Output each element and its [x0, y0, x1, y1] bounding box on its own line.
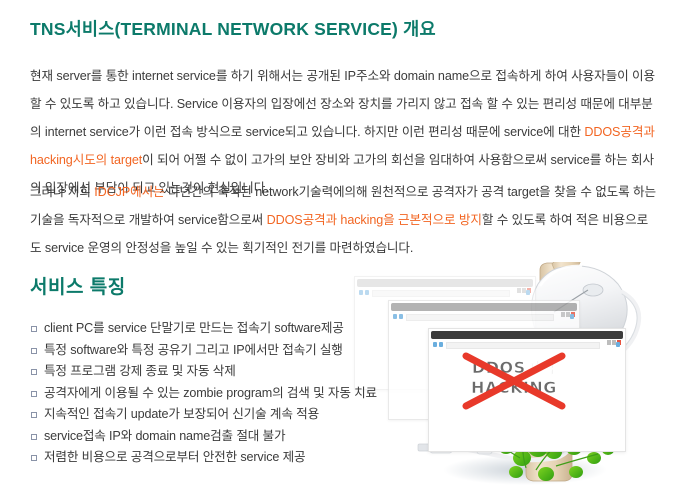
list-item-label: 저렴한 비용으로 공격으로부터 안전한 service 제공: [44, 450, 305, 464]
window-controls: [516, 280, 532, 286]
intro-paragraph-2: 그러나 저희 IDCJP에서는 다년간의 축적된 network기술력에의해 원…: [30, 178, 658, 262]
search-icon: [526, 290, 530, 295]
browser-window-middle: [388, 300, 580, 420]
forward-icon: [439, 342, 443, 347]
paragraph-2-highlight-1: IDCJP에서는: [94, 185, 164, 199]
browser-toolbar: [432, 341, 622, 348]
browser-toolbar: [358, 289, 532, 296]
bamboo-mouse-artwork: [350, 262, 680, 500]
window-controls: [606, 332, 622, 338]
square-bullet-icon: [31, 391, 37, 397]
red-cross-out-icon: [462, 352, 566, 410]
ivy-vines: [462, 350, 614, 481]
ddos-label-line-1: DDOS공격: [454, 354, 574, 378]
list-item-label: service접속 IP와 domain name검출 절대 불가: [44, 429, 285, 443]
ddos-protection-illustration: DDOS공격 HACKING: [350, 262, 680, 500]
features-list: client PC를 service 단말기로 만드는 접속기 software…: [30, 318, 377, 469]
back-icon: [393, 314, 397, 319]
square-bullet-icon: [31, 412, 37, 418]
list-item: 특정 프로그램 강제 종료 및 자동 삭제: [30, 361, 377, 383]
back-icon: [433, 342, 437, 347]
address-bar: [446, 342, 600, 349]
square-bullet-icon: [31, 369, 37, 375]
browser-titlebar: [391, 303, 577, 311]
square-bullet-icon: [31, 455, 37, 461]
address-bar: [406, 314, 554, 321]
browser-window-back: [354, 276, 536, 390]
browser-window-front: [428, 328, 626, 452]
square-bullet-icon: [31, 348, 37, 354]
browser-titlebar: [431, 331, 623, 339]
computer-mouse: [531, 266, 627, 356]
mouse-cable: [458, 292, 639, 460]
list-item: 지속적인 접속기 update가 보장되어 신기술 계속 적용: [30, 404, 377, 426]
hacking-label-line-2: HACKING: [454, 378, 574, 397]
list-item-label: 지속적인 접속기 update가 보장되어 신기술 계속 적용: [44, 407, 319, 421]
bamboo-shoots: [496, 262, 616, 391]
features-section-title: 서비스 특징: [30, 272, 126, 299]
back-icon: [359, 290, 363, 295]
browser-titlebar: [357, 279, 533, 287]
ddos-crossed-out-label: DDOS공격 HACKING: [454, 352, 574, 414]
list-item: 공격자에게 이용될 수 있는 zombie program의 검색 및 자동 치…: [30, 383, 377, 405]
list-item: service접속 IP와 domain name검출 절대 불가: [30, 426, 377, 448]
list-item-label: client PC를 service 단말기로 만드는 접속기 software…: [44, 321, 344, 335]
list-item: client PC를 service 단말기로 만드는 접속기 software…: [30, 318, 377, 340]
square-bullet-icon: [31, 326, 37, 332]
list-item-label: 공격자에게 이용될 수 있는 zombie program의 검색 및 자동 치…: [44, 386, 377, 400]
bamboo-trunk: [526, 263, 579, 481]
forward-icon: [399, 314, 403, 319]
slide-page: TNS서비스(TERMINAL NETWORK SERVICE) 개요 현재 s…: [0, 0, 680, 500]
search-icon: [570, 314, 574, 319]
paragraph-2-highlight-2: DDOS공격과 hacking을 근본적으로 방지: [267, 213, 482, 227]
usb-plug: [418, 440, 492, 454]
list-item-label: 특정 software와 특정 공유기 그리고 IP에서만 접속기 실행: [44, 343, 343, 357]
search-icon: [616, 342, 620, 347]
address-bar: [372, 290, 510, 297]
page-title: TNS서비스(TERMINAL NETWORK SERVICE) 개요: [30, 16, 436, 41]
mouse-cable-shade: [532, 294, 637, 456]
window-controls: [560, 304, 576, 310]
paragraph-2-segment-1: 그러나 저희: [30, 185, 94, 199]
list-item: 저렴한 비용으로 공격으로부터 안전한 service 제공: [30, 447, 377, 469]
list-item: 특정 software와 특정 공유기 그리고 IP에서만 접속기 실행: [30, 340, 377, 362]
forward-icon: [365, 290, 369, 295]
square-bullet-icon: [31, 434, 37, 440]
list-item-label: 특정 프로그램 강제 종료 및 자동 삭제: [44, 364, 236, 378]
paragraph-1-segment-1: 현재 server를 통한 internet service를 하기 위해서는 …: [30, 69, 655, 139]
browser-toolbar: [392, 313, 576, 320]
